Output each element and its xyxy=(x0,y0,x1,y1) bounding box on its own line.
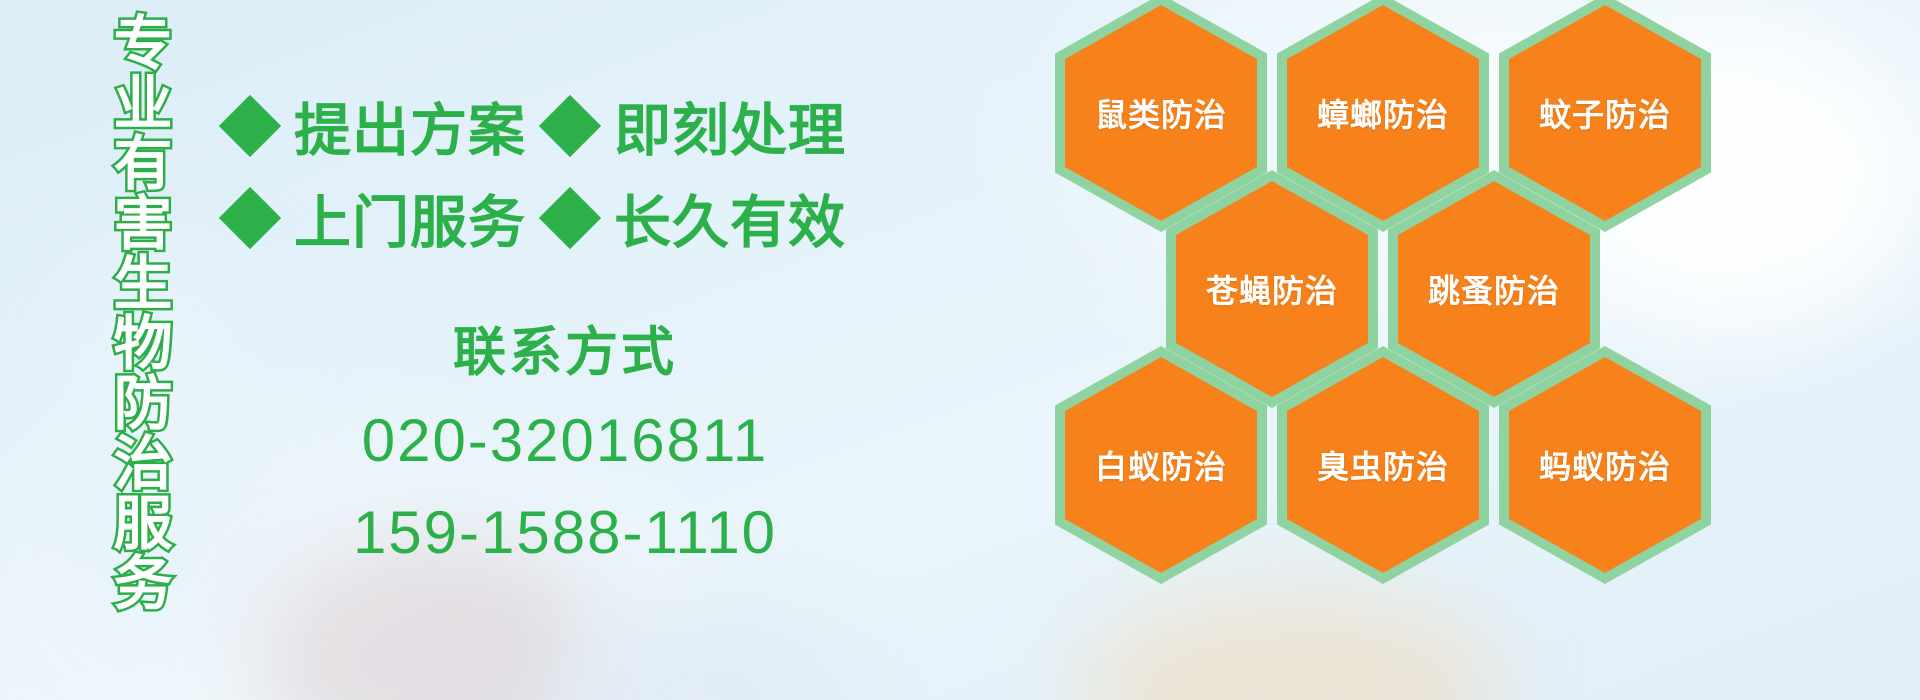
vertical-title-char: 害 xyxy=(113,194,172,253)
vertical-title-char: 生 xyxy=(113,254,172,313)
feature-label: 上门服务 xyxy=(294,177,526,259)
vertical-title-char: 服 xyxy=(113,494,172,553)
hex-inner: 白蚁防治 xyxy=(1065,357,1257,573)
feature-label: 提出方案 xyxy=(294,85,526,167)
service-label: 蚊子防治 xyxy=(1539,90,1671,136)
feature-item-1: 提出方案 xyxy=(228,85,548,167)
diamond-icon xyxy=(219,95,281,157)
diamond-icon xyxy=(219,187,281,249)
feature-item-2: 即刻处理 xyxy=(548,85,846,167)
vertical-title-char: 物 xyxy=(113,314,172,373)
feature-row: 上门服务 长久有效 xyxy=(228,172,868,264)
diamond-icon xyxy=(539,187,601,249)
hex-inner: 蟑螂防治 xyxy=(1287,5,1479,221)
diamond-icon xyxy=(539,95,601,157)
feature-list: 提出方案 即刻处理 上门服务 长久有效 xyxy=(228,80,868,264)
vertical-title: 专 业 有 害 生 物 防 治 服 务 xyxy=(106,14,180,554)
service-label: 白蚁防治 xyxy=(1095,442,1227,488)
phone-number-landline[interactable]: 020-32016811 xyxy=(330,402,800,480)
service-label: 鼠类防治 xyxy=(1095,90,1227,136)
hex-inner: 跳蚤防治 xyxy=(1398,181,1590,397)
feature-label: 即刻处理 xyxy=(614,85,846,167)
feature-label: 长久有效 xyxy=(614,177,846,259)
vertical-title-char: 专 xyxy=(113,14,172,73)
service-label: 臭虫防治 xyxy=(1317,442,1449,488)
service-honeycomb: 鼠类防治 蟑螂防治 蚊子防治 苍蝇防治 跳蚤防治 白蚁防治 xyxy=(1055,0,1795,700)
hex-inner: 鼠类防治 xyxy=(1065,5,1257,221)
phone-number-mobile[interactable]: 159-1588-1110 xyxy=(330,494,800,572)
service-label: 跳蚤防治 xyxy=(1428,266,1560,312)
contact-block: 联系方式 020-32016811 159-1588-1110 xyxy=(330,318,800,572)
vertical-title-char: 治 xyxy=(113,434,172,493)
feature-item-4: 长久有效 xyxy=(548,177,846,259)
pest-control-banner: 专 业 有 害 生 物 防 治 服 务 提出方案 即刻处理 上门服务 xyxy=(0,0,1920,700)
vertical-title-char: 业 xyxy=(113,74,172,133)
hex-inner: 蚂蚁防治 xyxy=(1509,357,1701,573)
vertical-title-char: 务 xyxy=(113,554,172,613)
feature-item-3: 上门服务 xyxy=(228,177,548,259)
vertical-title-char: 有 xyxy=(113,134,172,193)
hex-inner: 蚊子防治 xyxy=(1509,5,1701,221)
hex-inner: 苍蝇防治 xyxy=(1176,181,1368,397)
service-label: 蚂蚁防治 xyxy=(1539,442,1671,488)
feature-row: 提出方案 即刻处理 xyxy=(228,80,868,172)
service-label: 蟑螂防治 xyxy=(1317,90,1449,136)
contact-title: 联系方式 xyxy=(330,318,800,388)
service-label: 苍蝇防治 xyxy=(1206,266,1338,312)
vertical-title-char: 防 xyxy=(113,374,172,433)
background-blur-bottomcenter xyxy=(560,600,860,700)
hex-inner: 臭虫防治 xyxy=(1287,357,1479,573)
